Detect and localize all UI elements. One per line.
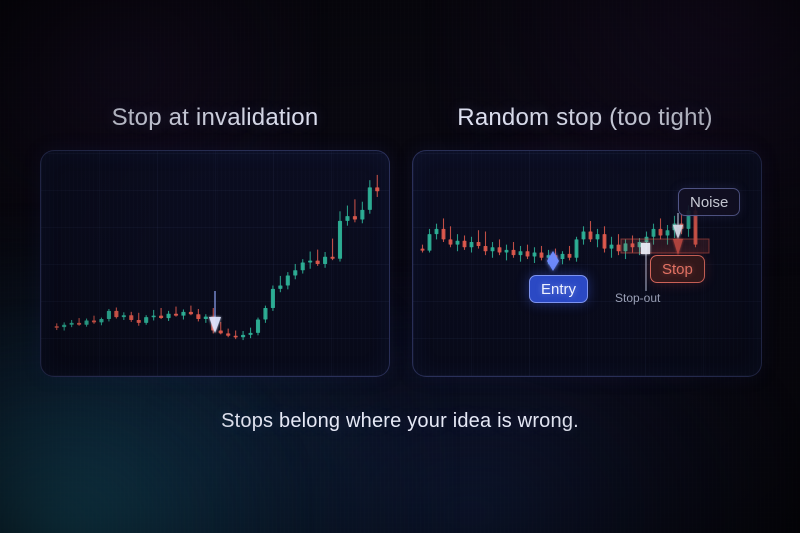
vignette-overlay — [0, 0, 800, 533]
slide-canvas: Stop at invalidation Random stop (too ti… — [0, 0, 800, 533]
